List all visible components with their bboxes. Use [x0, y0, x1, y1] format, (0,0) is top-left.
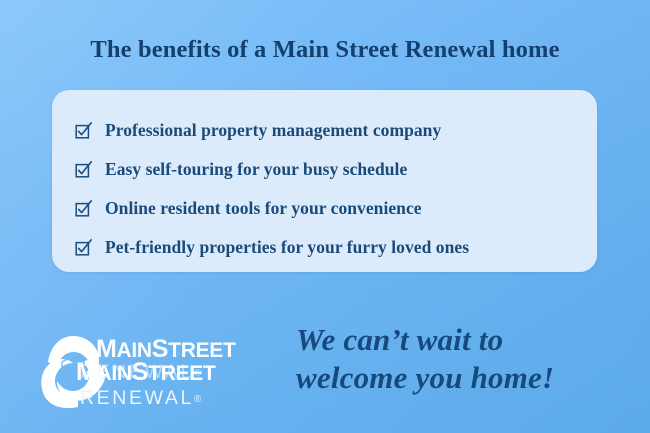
tagline-line-1: We can’t wait to — [296, 321, 626, 359]
benefit-label: Easy self-touring for your busy schedule — [105, 159, 407, 180]
list-item: Online resident tools for your convenien… — [52, 190, 597, 226]
benefit-label: Professional property management company — [105, 120, 441, 141]
checkbox-checked-icon — [75, 122, 92, 139]
brand-logo: MAINSTREET RENEWAL® MAINSTREET RENEWAL® — [34, 327, 286, 419]
page-title: The benefits of a Main Street Renewal ho… — [0, 36, 650, 64]
logo-wordmark-s: S — [132, 358, 148, 386]
logo-wordmark-ain: AIN — [97, 362, 132, 385]
list-item: Easy self-touring for your busy schedule — [52, 151, 597, 187]
benefits-list: Professional property management company… — [52, 90, 597, 272]
logo-subword: RENEWAL® — [80, 389, 201, 409]
logo-wordmark-treet: TREET — [168, 339, 235, 362]
checkbox-checked-icon — [75, 161, 92, 178]
logo-wordmark-s: S — [152, 335, 168, 363]
tagline: We can’t wait to welcome you home! — [296, 321, 626, 397]
logo-wordmark: MAINSTREET — [76, 360, 216, 385]
benefit-label: Online resident tools for your convenien… — [105, 198, 422, 219]
promotional-poster: The benefits of a Main Street Renewal ho… — [0, 0, 650, 433]
checkbox-checked-icon — [75, 239, 92, 256]
logo-wordmark-m: M — [76, 358, 97, 386]
benefit-label: Pet-friendly properties for your furry l… — [105, 237, 469, 258]
checkbox-checked-icon — [75, 200, 92, 217]
benefits-card: Professional property management company… — [52, 90, 597, 272]
logo-wordmark-treet: TREET — [148, 362, 215, 385]
list-item: Pet-friendly properties for your furry l… — [52, 229, 597, 265]
logo-subword-renewal: RENEWAL — [80, 387, 194, 409]
logo-wordmark-m: M — [96, 335, 117, 363]
tagline-line-2: welcome you home! — [296, 359, 626, 397]
registered-mark-icon: ® — [194, 394, 201, 405]
logo-wordmark-ghost: MAINSTREET — [96, 337, 236, 362]
list-item: Professional property management company — [52, 112, 597, 148]
